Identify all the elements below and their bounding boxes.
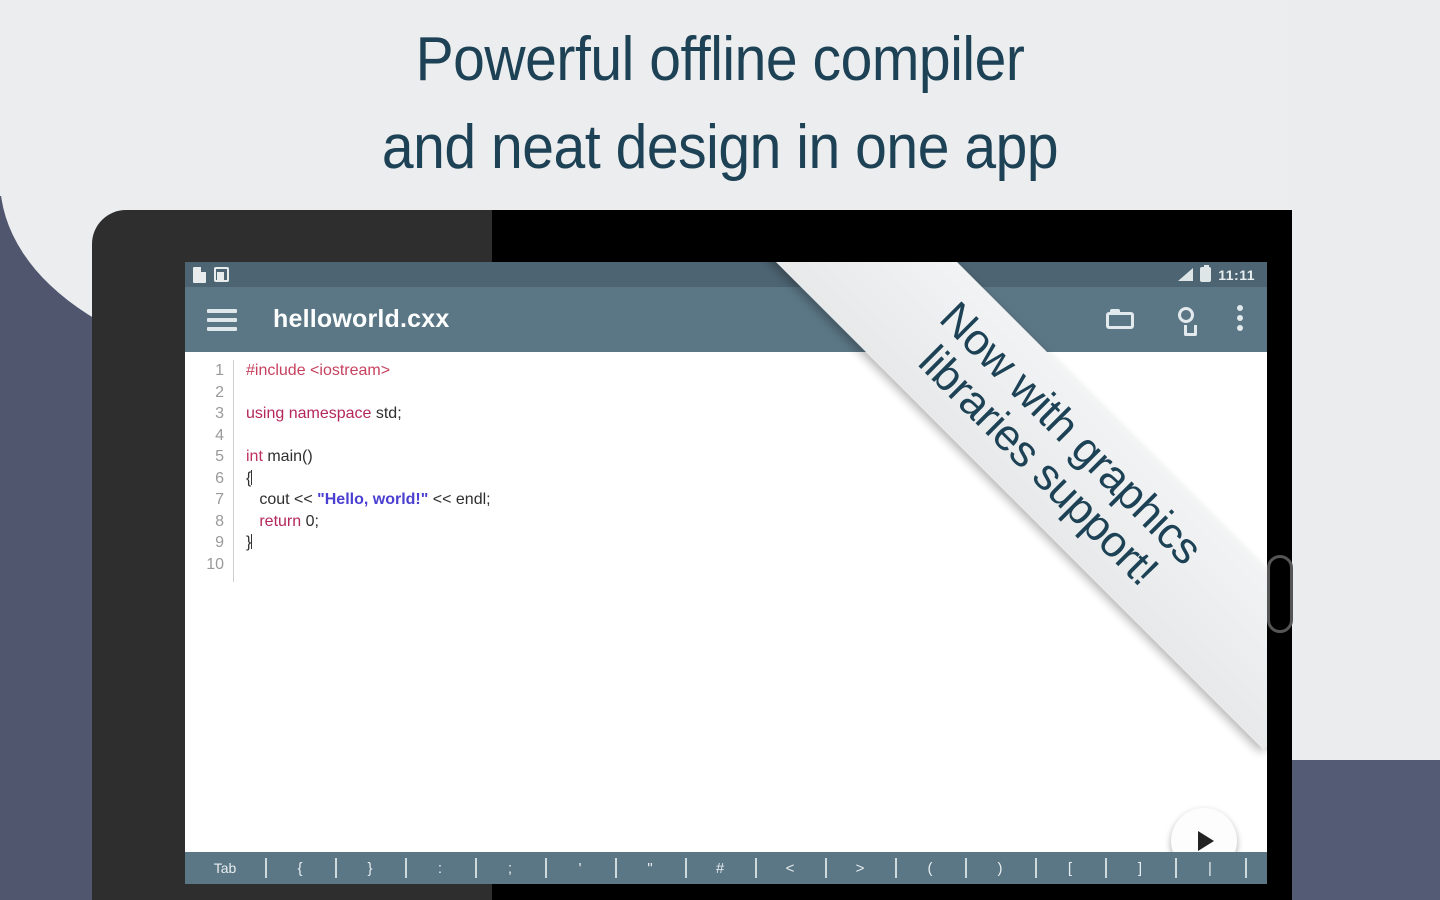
app-bar: helloworld.cxx [185, 287, 1267, 352]
code-line [246, 554, 491, 576]
status-bar-system: 11:11 [1178, 267, 1259, 283]
code-line [246, 425, 491, 447]
headline-line-2: and neat design in one app [58, 104, 1383, 192]
key-symbol[interactable]: # [685, 852, 755, 884]
key-symbol[interactable]: } [335, 852, 405, 884]
tablet-screen: 11:11 helloworld.cxx 1234 [185, 262, 1267, 884]
line-number: 7 [185, 489, 224, 511]
code-token: << endl; [428, 491, 490, 508]
code-token: "Hello, world!" [317, 491, 428, 508]
folder-icon[interactable] [1105, 305, 1135, 335]
line-number-gutter: 12345678910 [185, 360, 233, 852]
hamburger-bar [207, 327, 237, 331]
code-content[interactable]: #include <iostream> using namespace std;… [234, 360, 491, 852]
line-number: 8 [185, 511, 224, 533]
power-button[interactable] [1267, 555, 1293, 633]
key-symbol[interactable]: | [1175, 852, 1245, 884]
line-number: 3 [185, 403, 224, 425]
code-line: cout << "Hello, world!" << endl; [246, 489, 491, 511]
dot [1237, 305, 1243, 311]
hamburger-bar [207, 309, 237, 313]
code-line: int main() [246, 446, 491, 468]
tablet-device-frame: 11:11 helloworld.cxx 1234 [92, 210, 1292, 900]
background-slate-right-shape [1289, 760, 1440, 900]
code-token: int [246, 448, 263, 465]
dot [1237, 315, 1243, 321]
code-line: } [246, 532, 491, 554]
key-symbol[interactable]: > [825, 852, 895, 884]
line-number: 10 [185, 554, 224, 576]
headline-line-1: Powerful offline compiler [58, 16, 1383, 104]
hamburger-icon[interactable] [207, 309, 237, 331]
code-line: using namespace std; [246, 403, 491, 425]
key-symbol[interactable]: { [265, 852, 335, 884]
code-token [246, 513, 259, 530]
code-token: std; [376, 405, 402, 422]
document-boxed-icon [214, 267, 229, 282]
overflow-menu-icon[interactable] [1237, 305, 1245, 335]
lightbulb-icon[interactable] [1171, 305, 1201, 335]
text-caret [251, 470, 252, 485]
app-bar-actions [1105, 305, 1245, 335]
key-symbol[interactable]: [ [1035, 852, 1105, 884]
code-line: { [246, 468, 491, 490]
key-symbol[interactable]: . [1245, 852, 1267, 884]
signal-icon [1178, 268, 1193, 281]
key-symbol[interactable]: " [615, 852, 685, 884]
status-bar-clock: 11:11 [1218, 267, 1255, 283]
code-editor[interactable]: 12345678910 #include <iostream> using na… [185, 352, 1267, 852]
line-number: 4 [185, 425, 224, 447]
android-status-bar: 11:11 [185, 262, 1267, 287]
line-number: 1 [185, 360, 224, 382]
code-line [246, 382, 491, 404]
code-token: main() [263, 448, 313, 465]
key-symbol[interactable]: ) [965, 852, 1035, 884]
hamburger-bar [207, 318, 237, 322]
line-number: 5 [185, 446, 224, 468]
key-symbol[interactable]: ] [1105, 852, 1175, 884]
key-symbol[interactable]: ( [895, 852, 965, 884]
page-headline: Powerful offline compiler and neat desig… [58, 16, 1383, 192]
key-shortcut-toolbar[interactable]: Tab{}:;'"#<>()[]|. [185, 852, 1267, 884]
dot [1237, 325, 1243, 331]
code-line: #include <iostream> [246, 360, 491, 382]
battery-icon [1200, 267, 1211, 282]
key-tab[interactable]: Tab [185, 852, 265, 884]
line-number: 2 [185, 382, 224, 404]
play-icon [1198, 831, 1214, 851]
key-symbol[interactable]: < [755, 852, 825, 884]
status-bar-notifications [193, 267, 229, 283]
code-token: 0; [301, 513, 319, 530]
code-line: return 0; [246, 511, 491, 533]
line-number: 9 [185, 532, 224, 554]
code-token: #include <iostream> [246, 362, 390, 379]
text-caret [251, 534, 252, 549]
page-title: helloworld.cxx [273, 305, 449, 334]
document-icon [193, 267, 206, 283]
key-symbol[interactable]: ' [545, 852, 615, 884]
code-token: return [259, 513, 301, 530]
code-token: using namespace [246, 405, 376, 422]
key-symbol[interactable]: ; [475, 852, 545, 884]
key-symbol[interactable]: : [405, 852, 475, 884]
line-number: 6 [185, 468, 224, 490]
code-token: cout << [246, 491, 317, 508]
